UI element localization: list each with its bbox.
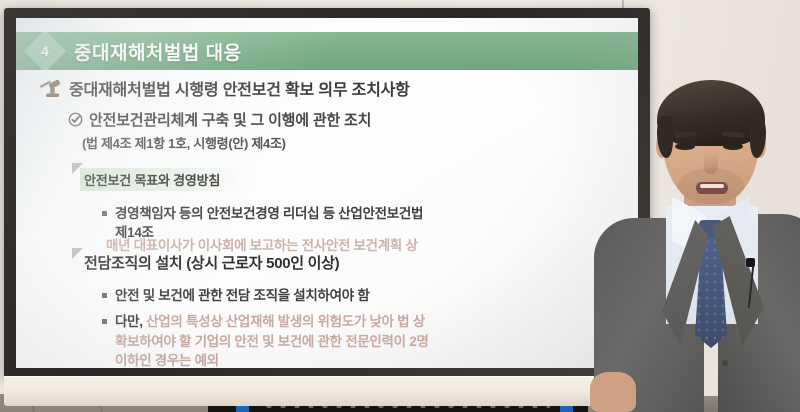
presenter [600, 0, 800, 412]
presentation-slide: 4 중대재해처벌법 대응 중대재해처벌법 시행령 안전보건 확보 의무 조치사 [16, 18, 638, 368]
bullet-b2-line-2: 확보하여야 할 기업의 안전 및 보건에 관한 전문인력이 2명 [115, 334, 429, 349]
bullet-b2-line-3: 이하인 경우는 예외 [115, 353, 219, 368]
nose [704, 152, 718, 174]
slide-body: 중대재해처벌법 시행령 안전보건 확보 의무 조치사항 안전보건관리체계 구축 … [16, 76, 638, 368]
eye-right [723, 143, 743, 150]
eye-left [675, 143, 695, 150]
transition-incoming-block: 전담조직의 설치 (상시 근로자 500인 이상) [72, 252, 339, 273]
section-a-block: 안전보건 목표와 경영방침 [16, 168, 638, 191]
mouth [696, 182, 728, 194]
bullet-b2-wrap: 다만, 산업의 특성상 산업재해 발생의 위험도가 낮아 법 상 확보하여야 할… [115, 312, 429, 368]
jacket-button [722, 360, 728, 366]
subheading-reference: (법 제4조 제1항 1호, 시행령(안) 제4조) [16, 133, 638, 152]
bullet-b1-text: 안전 및 보건에 관한 전담 조직을 설치하여야 함 [115, 286, 369, 305]
square-bullet-icon [102, 211, 107, 216]
slide-title-bar: 4 중대재해처벌법 대응 [16, 32, 638, 70]
transition-outgoing-line: 매년 대표이사가 이사회에 보고하는 전사안전 보건계획 상 [106, 234, 418, 254]
gavel-icon [38, 77, 62, 99]
hand [590, 372, 636, 412]
transition-incoming-label: 전담조직의 설치 (상시 근로자 500인 이상) [84, 255, 339, 272]
digital-whiteboard[interactable]: 4 중대재해처벌법 대응 중대재해처벌법 시행령 안전보건 확보 의무 조치사 [4, 8, 650, 412]
subheading-row: 안전보건관리체계 구축 및 그 이행에 관한 조치 [16, 109, 638, 130]
square-bullet-icon [102, 293, 107, 298]
square-bullet-icon [102, 319, 107, 324]
section-b-bullets: 안전 및 보건에 관한 전담 조직을 설치하여야 함 다만, 산업의 특성상 산… [16, 286, 638, 368]
section-a-label: 안전보건 목표와 경영방침 [80, 168, 246, 191]
hair-side-left [657, 116, 673, 158]
heading-row: 중대재해처벌법 시행령 안전보건 확보 의무 조치사항 [16, 76, 638, 100]
slide-number-badge: 4 [24, 30, 66, 72]
subheading-text: 안전보건관리체계 구축 및 그 이행에 관한 조치 [89, 109, 371, 130]
slide-title: 중대재해처벌법 대응 [74, 38, 242, 65]
heading-text: 중대재해처벌법 시행령 안전보건 확보 의무 조치사항 [69, 76, 410, 100]
display-chin [4, 376, 650, 406]
list-item: 다만, 산업의 특성상 산업재해 발생의 위험도가 낮아 법 상 확보하여야 할… [102, 312, 638, 368]
check-circle-icon [68, 112, 83, 127]
slide-number: 4 [41, 43, 49, 59]
list-item: 안전 및 보건에 관한 전담 조직을 설치하여야 함 [102, 286, 638, 305]
corner-tag-icon [72, 248, 83, 259]
display-screen[interactable]: 4 중대재해처벌법 대응 중대재해처벌법 시행령 안전보건 확보 의무 조치사 [16, 18, 638, 368]
bullet-line-1: 경영책임자 등의 안전보건경영 리더십 등 산업안전보건법 [115, 206, 423, 221]
bullet-b2-lead: 다만, [115, 314, 143, 329]
hair [657, 80, 765, 146]
bullet-b2-line-1: 산업의 특성상 산업재해 발생의 위험도가 낮아 법 상 [146, 314, 425, 329]
lecture-scene: 4 중대재해처벌법 대응 중대재해처벌법 시행령 안전보건 확보 의무 조치사 [0, 0, 800, 412]
